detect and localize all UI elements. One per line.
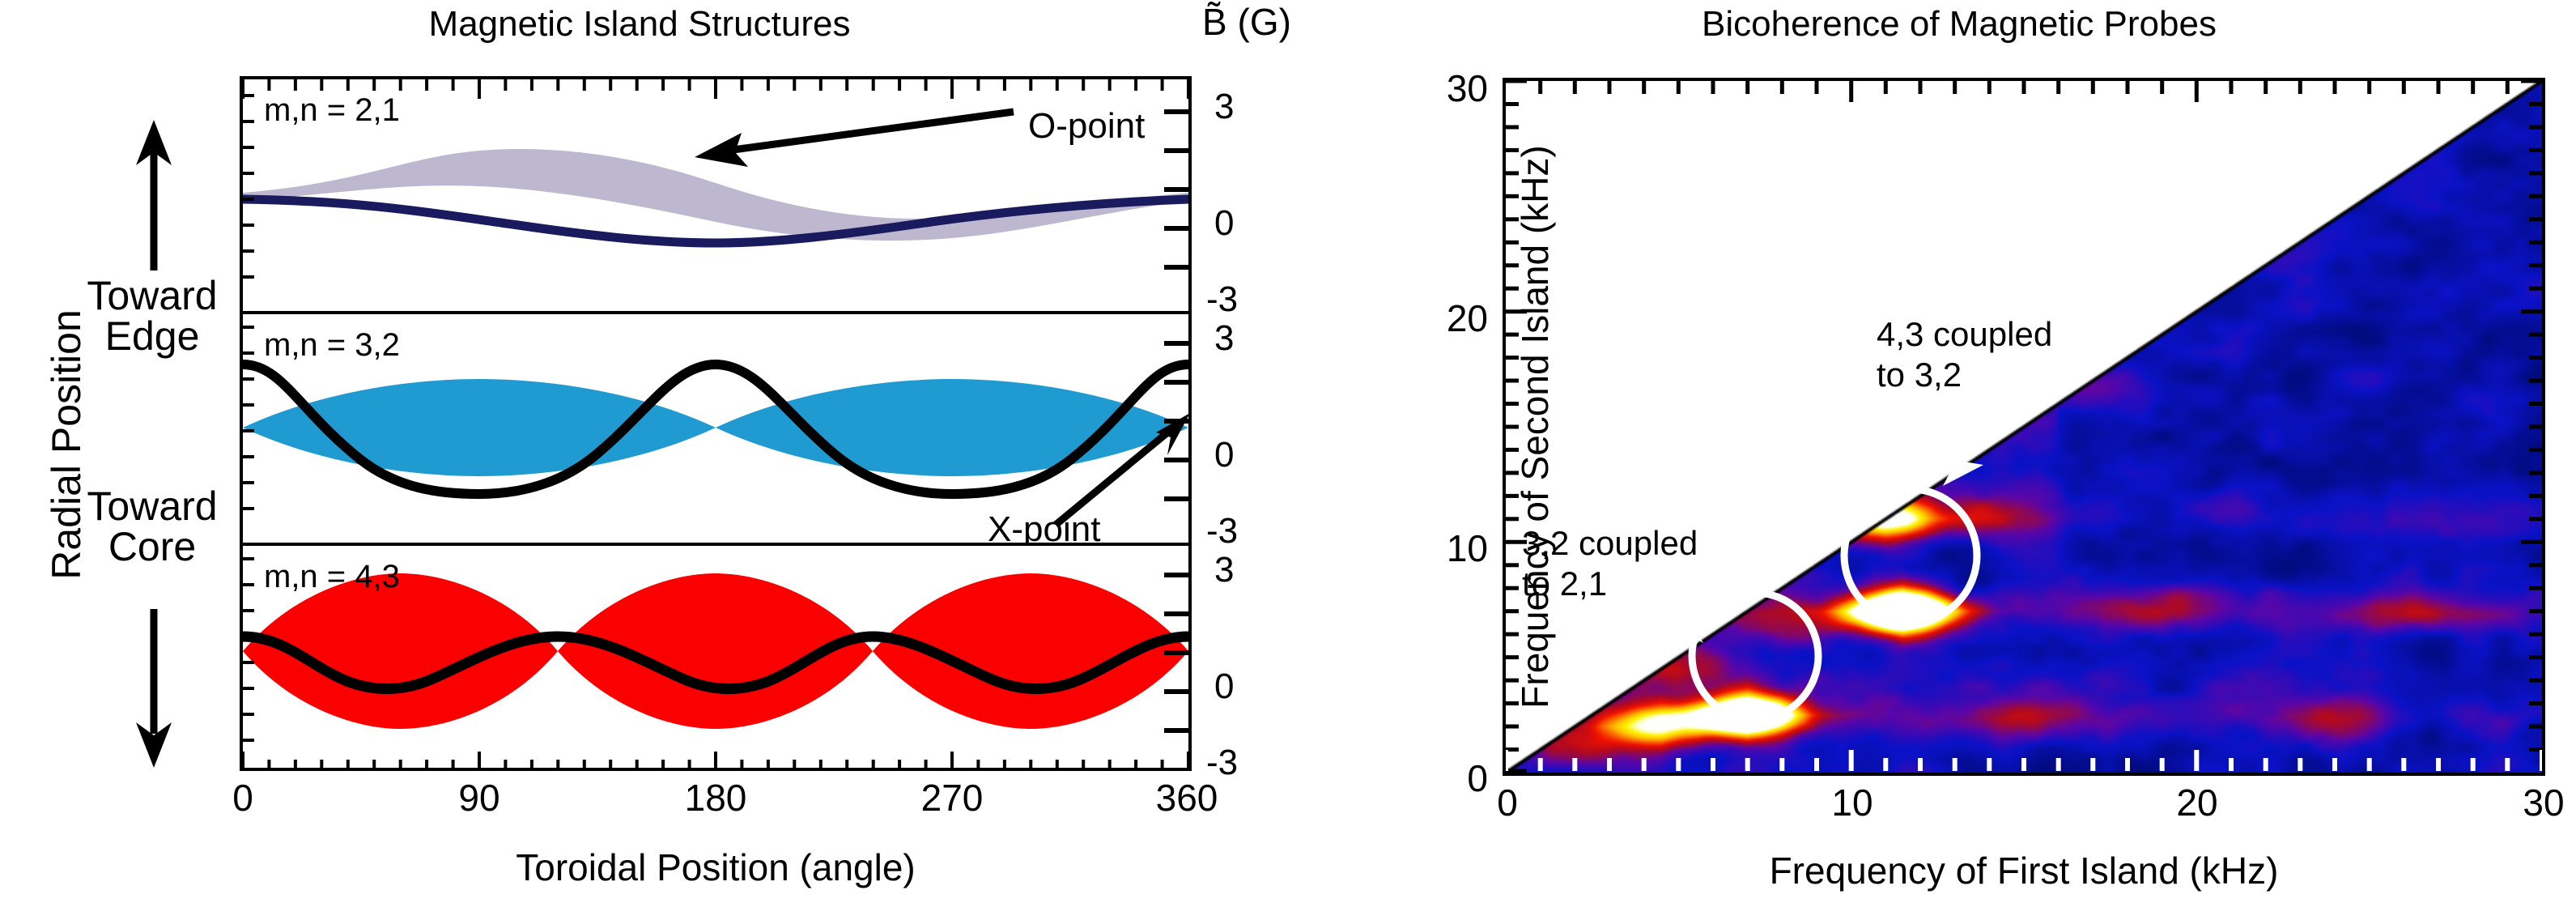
- ry-tick-8: -3: [1206, 745, 1238, 781]
- bicoherence-ticks: [1506, 81, 2542, 773]
- ry-tick-2: -3: [1206, 282, 1238, 317]
- toward-core-arrow-icon: [136, 609, 172, 768]
- subpanel-label-2-1: m,n = 2,1: [264, 92, 400, 129]
- by-tick-30: 30: [1447, 70, 1488, 107]
- x-point-label: X-point: [988, 512, 1100, 543]
- annotation-4-3-coupled-to-3-2: 4,3 coupledto 3,2: [1877, 314, 2052, 394]
- subpanel-3-2: m,n = 3,2 X-point: [243, 311, 1188, 543]
- subpanel-label-4-3: m,n = 4,3: [264, 559, 400, 595]
- x-tick-360: 360: [1156, 779, 1218, 816]
- ry-tick-1: 0: [1214, 206, 1234, 241]
- annotation-3-2-coupled-to-2-1: 3,2 coupledto 2,1: [1522, 523, 1698, 603]
- bx-tick-30: 30: [2523, 784, 2564, 821]
- toward-edge-arrow-icon: [136, 120, 172, 274]
- x-tick-270: 270: [921, 779, 984, 816]
- ry-tick-5: -3: [1206, 513, 1238, 549]
- ry-tick-0: 3: [1214, 89, 1234, 125]
- bx-tick-10: 10: [1831, 784, 1872, 821]
- by-tick-0: 0: [1467, 760, 1488, 797]
- bx-tick-0: 0: [1497, 784, 1518, 821]
- bx-tick-20: 20: [2176, 784, 2217, 821]
- subpanel-2-1: m,n = 2,1 O-point: [243, 79, 1188, 311]
- b-tilde-axis-label: B̃ (G): [1202, 3, 1291, 40]
- x-tick-90: 90: [458, 779, 499, 816]
- ry-tick-3: 3: [1214, 321, 1234, 356]
- left-x-axis-label: Toroidal Position (angle): [516, 849, 916, 886]
- left-panel-title: Magnetic Island Structures: [429, 6, 851, 42]
- toward-core-label: TowardCore: [71, 486, 233, 567]
- by-tick-20: 20: [1447, 300, 1488, 337]
- x-tick-180: 180: [685, 779, 747, 816]
- magnetic-island-plot: m,n = 2,1 O-point m,n = 3,2: [240, 76, 1192, 771]
- ry-tick-7: 0: [1214, 669, 1234, 705]
- o-point-arrow-icon: [680, 97, 1020, 186]
- x-tick-0: 0: [232, 779, 253, 816]
- right-x-axis-label: Frequency of First Island (kHz): [1770, 852, 2279, 889]
- figure-root: Magnetic Island Structures Radial Positi…: [0, 0, 2576, 920]
- by-tick-10: 10: [1447, 530, 1488, 567]
- bicoherence-plot: 0.2 0.1 0.0: [1503, 78, 2545, 776]
- toward-edge-label: TowardEdge: [71, 275, 233, 356]
- right-panel-title: Bicoherence of Magnetic Probes: [1702, 6, 2217, 42]
- ry-tick-6: 3: [1214, 552, 1234, 588]
- ry-tick-4: 0: [1214, 437, 1234, 473]
- subpanel-label-3-2: m,n = 3,2: [264, 327, 400, 364]
- o-point-label: O-point: [1028, 109, 1145, 144]
- subpanel-4-3: m,n = 4,3: [243, 543, 1188, 774]
